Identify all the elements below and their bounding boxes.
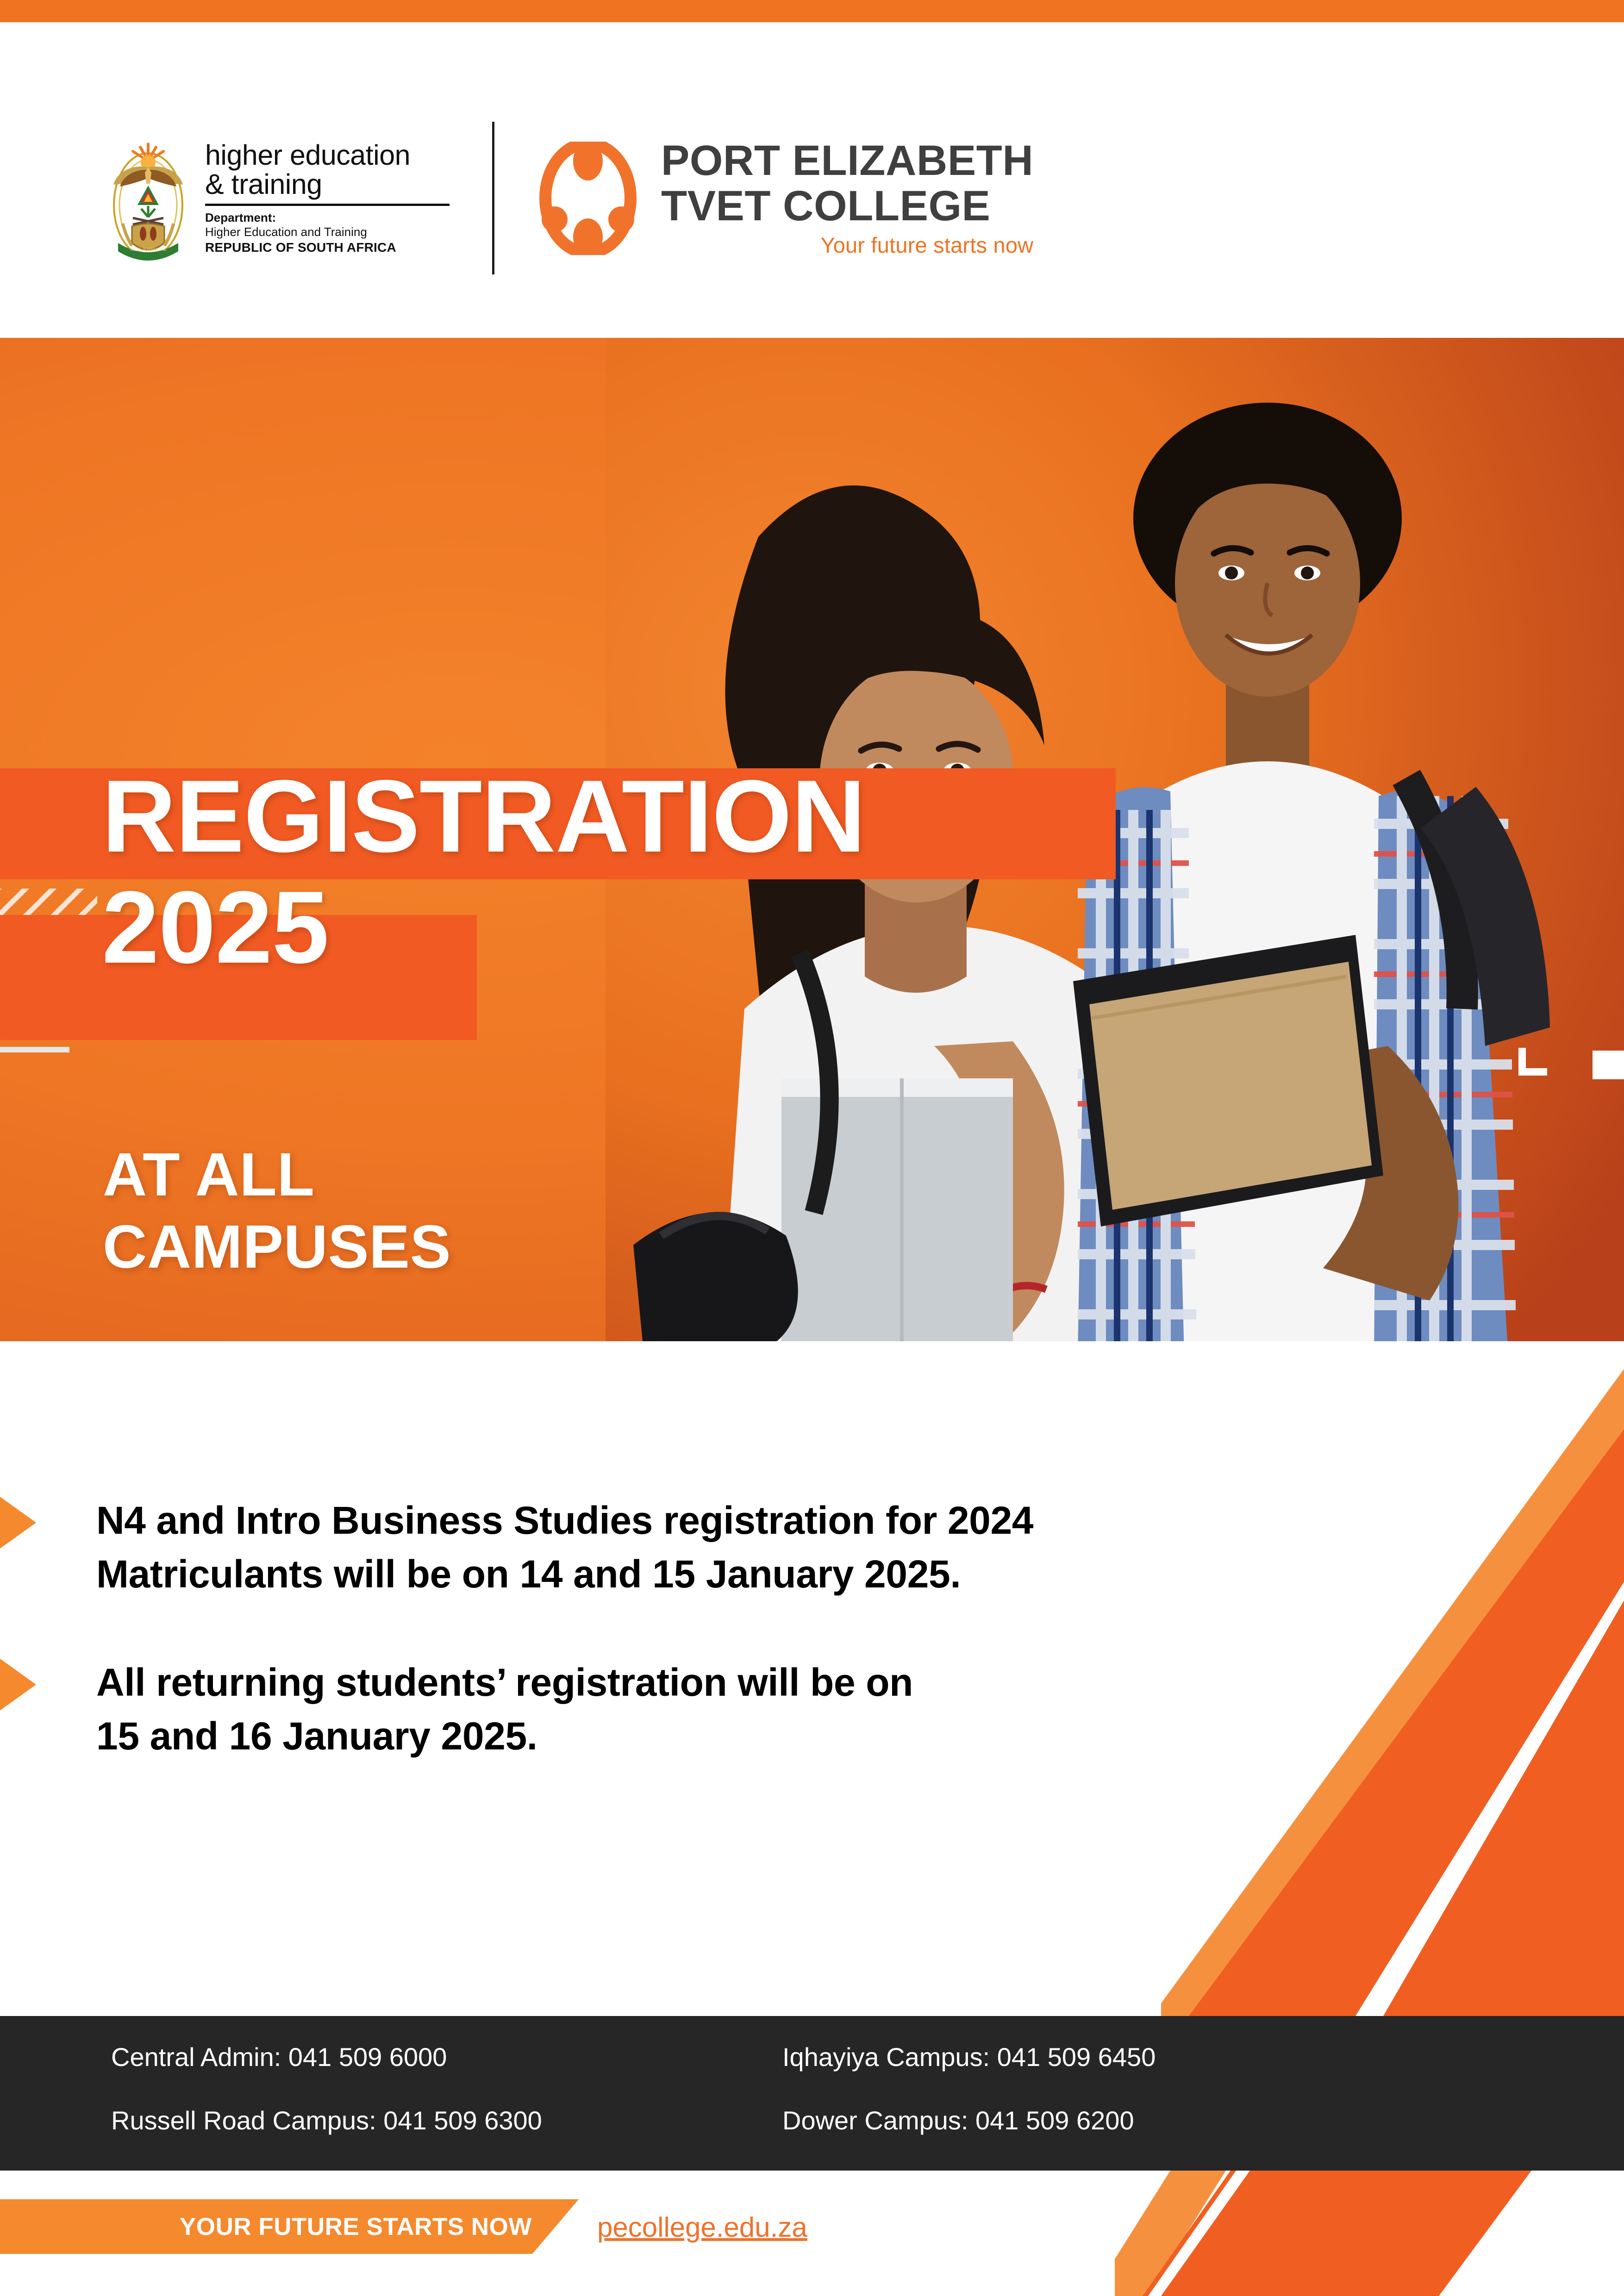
pe-name-line2: TVET COLLEGE bbox=[661, 184, 1033, 229]
hero-title-line2: 2025 bbox=[102, 875, 865, 980]
dhet-country: REPUBLIC OF SOUTH AFRICA bbox=[205, 240, 450, 255]
corner-bracket-decoration bbox=[1518, 1048, 1547, 1076]
bullet-2-line-1: All returning students’ registration wil… bbox=[96, 1656, 913, 1710]
white-square-decoration bbox=[1593, 1051, 1624, 1079]
svg-text:!KE E: /XARRA //KE: !KE E: /XARRA //KE bbox=[130, 247, 167, 252]
dhet-wordmark: higher education & training Department: … bbox=[205, 141, 450, 255]
dhet-line1: higher education bbox=[205, 141, 450, 170]
south-africa-coat-of-arms-icon: !KE E: /XARRA //KE bbox=[104, 136, 192, 261]
dhet-department-name: Higher Education and Training bbox=[205, 225, 450, 240]
hero-subtitle-line1: AT ALL bbox=[103, 1139, 451, 1211]
list-item: N4 and Intro Business Studies registrati… bbox=[0, 1494, 1389, 1601]
pe-tvet-college-logo: PORT ELIZABETH TVET COLLEGE Your future … bbox=[537, 138, 1033, 258]
footer-diagonal-stripes-decoration bbox=[1115, 2171, 1624, 2296]
website-link[interactable]: pecollege.edu.za bbox=[597, 2211, 807, 2243]
bullet-1-line-1: N4 and Intro Business Studies registrati… bbox=[96, 1494, 1033, 1548]
pe-college-wordmark: PORT ELIZABETH TVET COLLEGE Your future … bbox=[661, 138, 1033, 258]
bullet-text: N4 and Intro Business Studies registrati… bbox=[96, 1494, 1033, 1601]
bullet-list: N4 and Intro Business Studies registrati… bbox=[0, 1494, 1389, 1818]
contact-grid: Central Admin: 041 509 6000 Iqhayiya Cam… bbox=[111, 2042, 1500, 2135]
list-item: All returning students’ registration wil… bbox=[0, 1656, 1389, 1763]
footer-tagline-banner: YOUR FUTURE STARTS NOW bbox=[0, 2199, 579, 2254]
contact-iqhayiya-campus[interactable]: Iqhayiya Campus: 041 509 6450 bbox=[782, 2042, 1454, 2072]
contact-dower-campus[interactable]: Dower Campus: 041 509 6200 bbox=[782, 2105, 1454, 2135]
arrow-bullet-icon bbox=[0, 1497, 36, 1549]
dhet-divider bbox=[205, 204, 450, 206]
hero-subtitle-line2: CAMPUSES bbox=[103, 1211, 451, 1283]
contact-band: Central Admin: 041 509 6000 Iqhayiya Cam… bbox=[0, 2016, 1624, 2171]
header-divider bbox=[492, 122, 494, 274]
hero-subtitle: AT ALL CAMPUSES bbox=[103, 1139, 451, 1283]
poster-header: !KE E: /XARRA //KE higher education & tr… bbox=[0, 22, 1624, 338]
contact-russell-road-campus[interactable]: Russell Road Campus: 041 509 6300 bbox=[111, 2105, 782, 2135]
contact-central-admin[interactable]: Central Admin: 041 509 6000 bbox=[111, 2042, 782, 2072]
hero-banner: REGISTRATION 2025 AT ALL CAMPUSES bbox=[0, 338, 1624, 1341]
logo-row: !KE E: /XARRA //KE higher education & tr… bbox=[104, 122, 1033, 274]
pe-name-line1: PORT ELIZABETH bbox=[661, 138, 1033, 184]
dhet-department-label: Department: bbox=[205, 211, 450, 225]
dhet-line2: & training bbox=[205, 170, 450, 199]
top-accent-bar bbox=[0, 0, 1624, 22]
bullet-1-line-2: Matriculants will be on 14 and 15 Januar… bbox=[96, 1548, 1033, 1601]
pe-tagline: Your future starts now bbox=[661, 232, 1033, 258]
bullet-text: All returning students’ registration wil… bbox=[96, 1656, 913, 1763]
poster-footer: YOUR FUTURE STARTS NOW pecollege.edu.za bbox=[0, 2171, 1624, 2296]
hero-title-line1: REGISTRATION bbox=[102, 766, 865, 868]
arrow-bullet-icon bbox=[0, 1659, 36, 1711]
bullet-2-line-2: 15 and 16 January 2025. bbox=[96, 1710, 913, 1763]
pe-college-emblem-icon bbox=[537, 142, 639, 255]
announcement-section: N4 and Intro Business Studies registrati… bbox=[0, 1341, 1624, 2016]
hero-title: REGISTRATION 2025 bbox=[102, 766, 865, 980]
white-dash-decoration bbox=[0, 1047, 69, 1052]
footer-tagline: YOUR FUTURE STARTS NOW bbox=[180, 2213, 532, 2241]
